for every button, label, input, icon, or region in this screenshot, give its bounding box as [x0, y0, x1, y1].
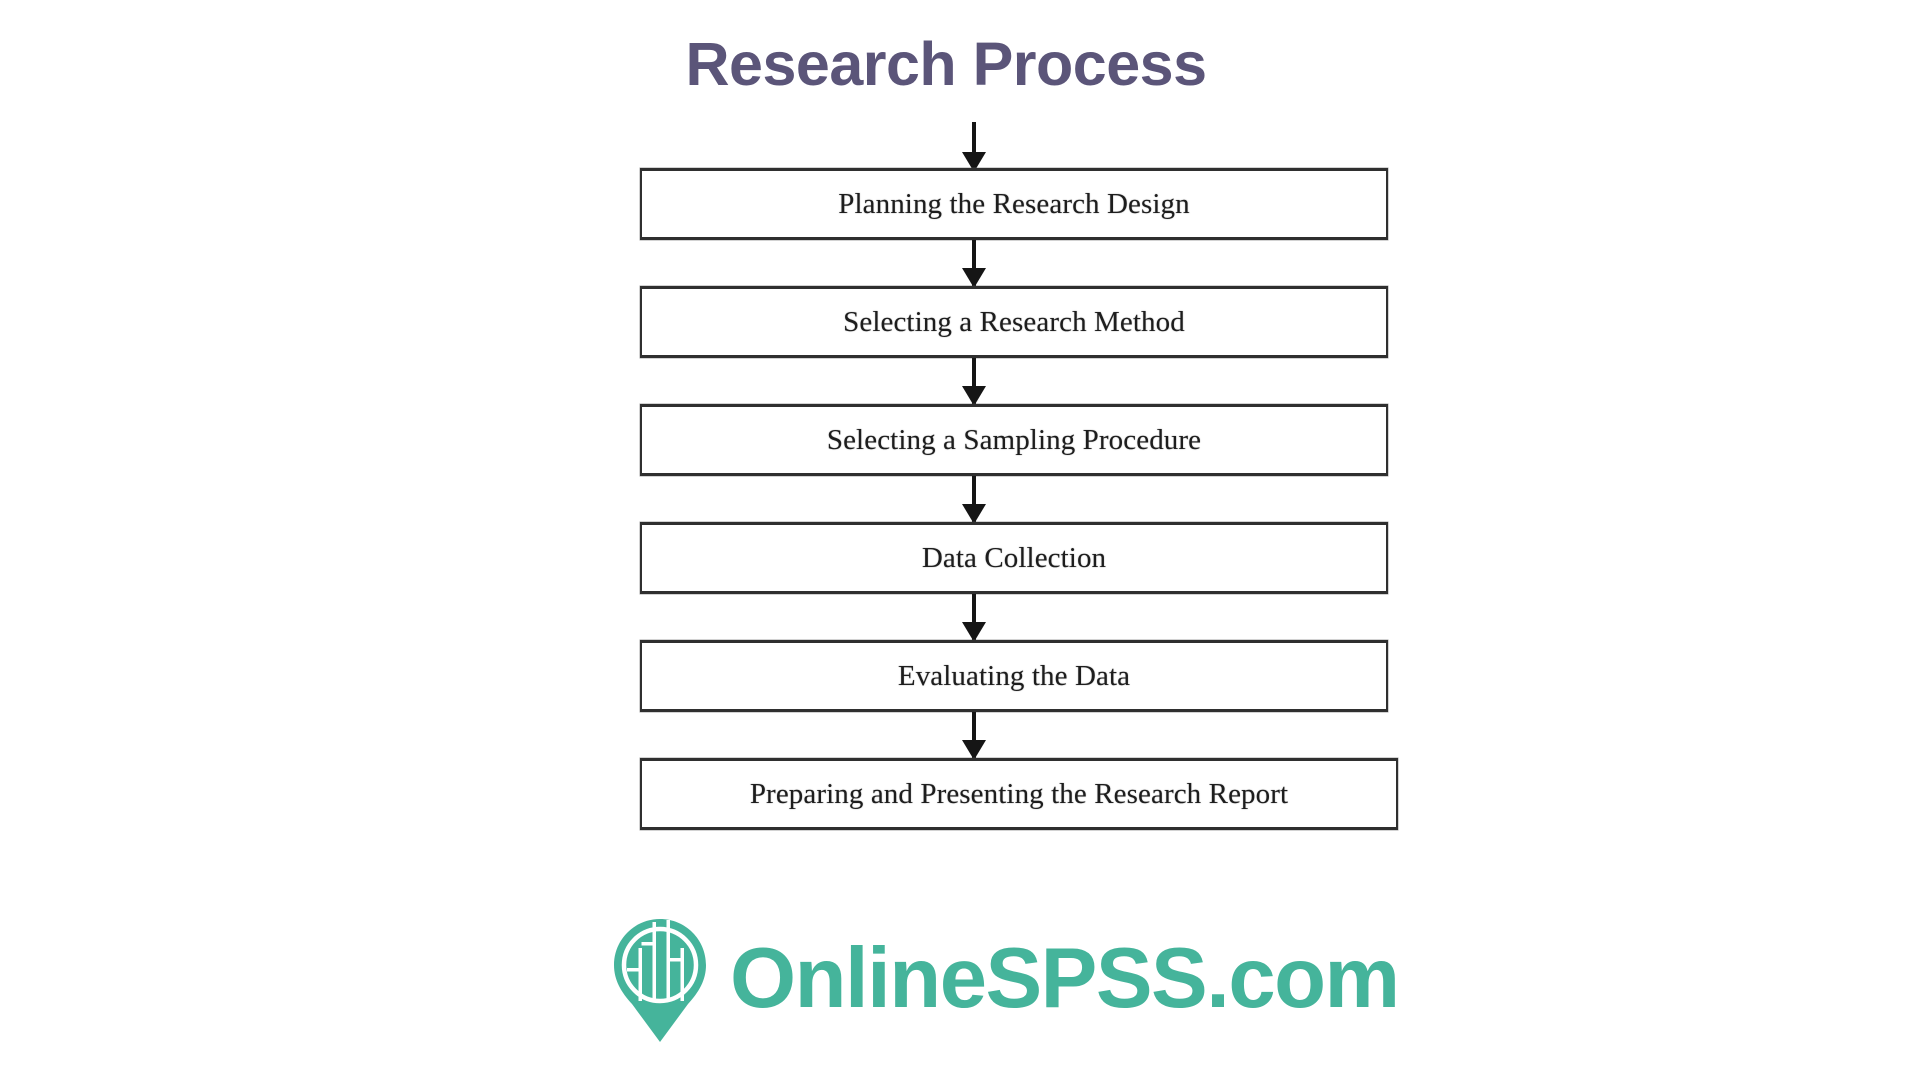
onlinespss-map-pin-barchart-logo-icon — [612, 918, 708, 1050]
flow-node-5[interactable]: Evaluating the Data — [640, 640, 1388, 712]
flow-row-3: Selecting a Sampling Procedure — [640, 404, 1412, 476]
flow-node-label: Selecting a Research Method — [843, 308, 1185, 337]
arrowhead-down-icon — [962, 740, 986, 760]
connector-stem — [972, 122, 976, 152]
brand-wordmark: OnlineSPSS.com — [730, 936, 1399, 1021]
flow-row-6: Preparing and Presenting the Research Re… — [640, 758, 1412, 830]
page-title-text: Research Process — [685, 30, 1206, 98]
flow-node-label: Evaluating the Data — [898, 662, 1130, 691]
flow-node-6[interactable]: Preparing and Presenting the Research Re… — [640, 758, 1398, 830]
flow-connector-5-6 — [640, 712, 1388, 758]
flow-row-2: Selecting a Research Method — [640, 286, 1412, 358]
flow-connector-entry — [640, 122, 1388, 168]
flow-row-1: Planning the Research Design — [640, 168, 1412, 240]
flow-node-4[interactable]: Data Collection — [640, 522, 1388, 594]
flow-row-5: Evaluating the Data — [640, 640, 1412, 712]
flowchart: Planning the Research Design Selecting a… — [640, 122, 1412, 830]
flow-row-4: Data Collection — [640, 522, 1412, 594]
flow-node-label: Data Collection — [922, 544, 1106, 573]
flow-node-label: Selecting a Sampling Procedure — [827, 426, 1201, 455]
flow-connector-1-2 — [640, 240, 1388, 286]
page-title: Research Process — [0, 32, 1920, 96]
flow-node-2[interactable]: Selecting a Research Method — [640, 286, 1388, 358]
diagram-canvas: Research Process Planning the Research D… — [0, 0, 1920, 1080]
flow-connector-2-3 — [640, 358, 1388, 404]
flow-node-label: Preparing and Presenting the Research Re… — [750, 780, 1288, 809]
flow-connector-4-5 — [640, 594, 1388, 640]
flow-node-3[interactable]: Selecting a Sampling Procedure — [640, 404, 1388, 476]
arrowhead-down-icon — [962, 622, 986, 642]
flow-connector-3-4 — [640, 476, 1388, 522]
arrowhead-down-icon — [962, 386, 986, 406]
arrowhead-down-icon — [962, 504, 986, 524]
flow-node-label: Planning the Research Design — [838, 190, 1190, 219]
brand-logo[interactable]: OnlineSPSS.com — [612, 918, 1399, 1050]
arrowhead-down-icon — [962, 268, 986, 288]
flow-node-1[interactable]: Planning the Research Design — [640, 168, 1388, 240]
